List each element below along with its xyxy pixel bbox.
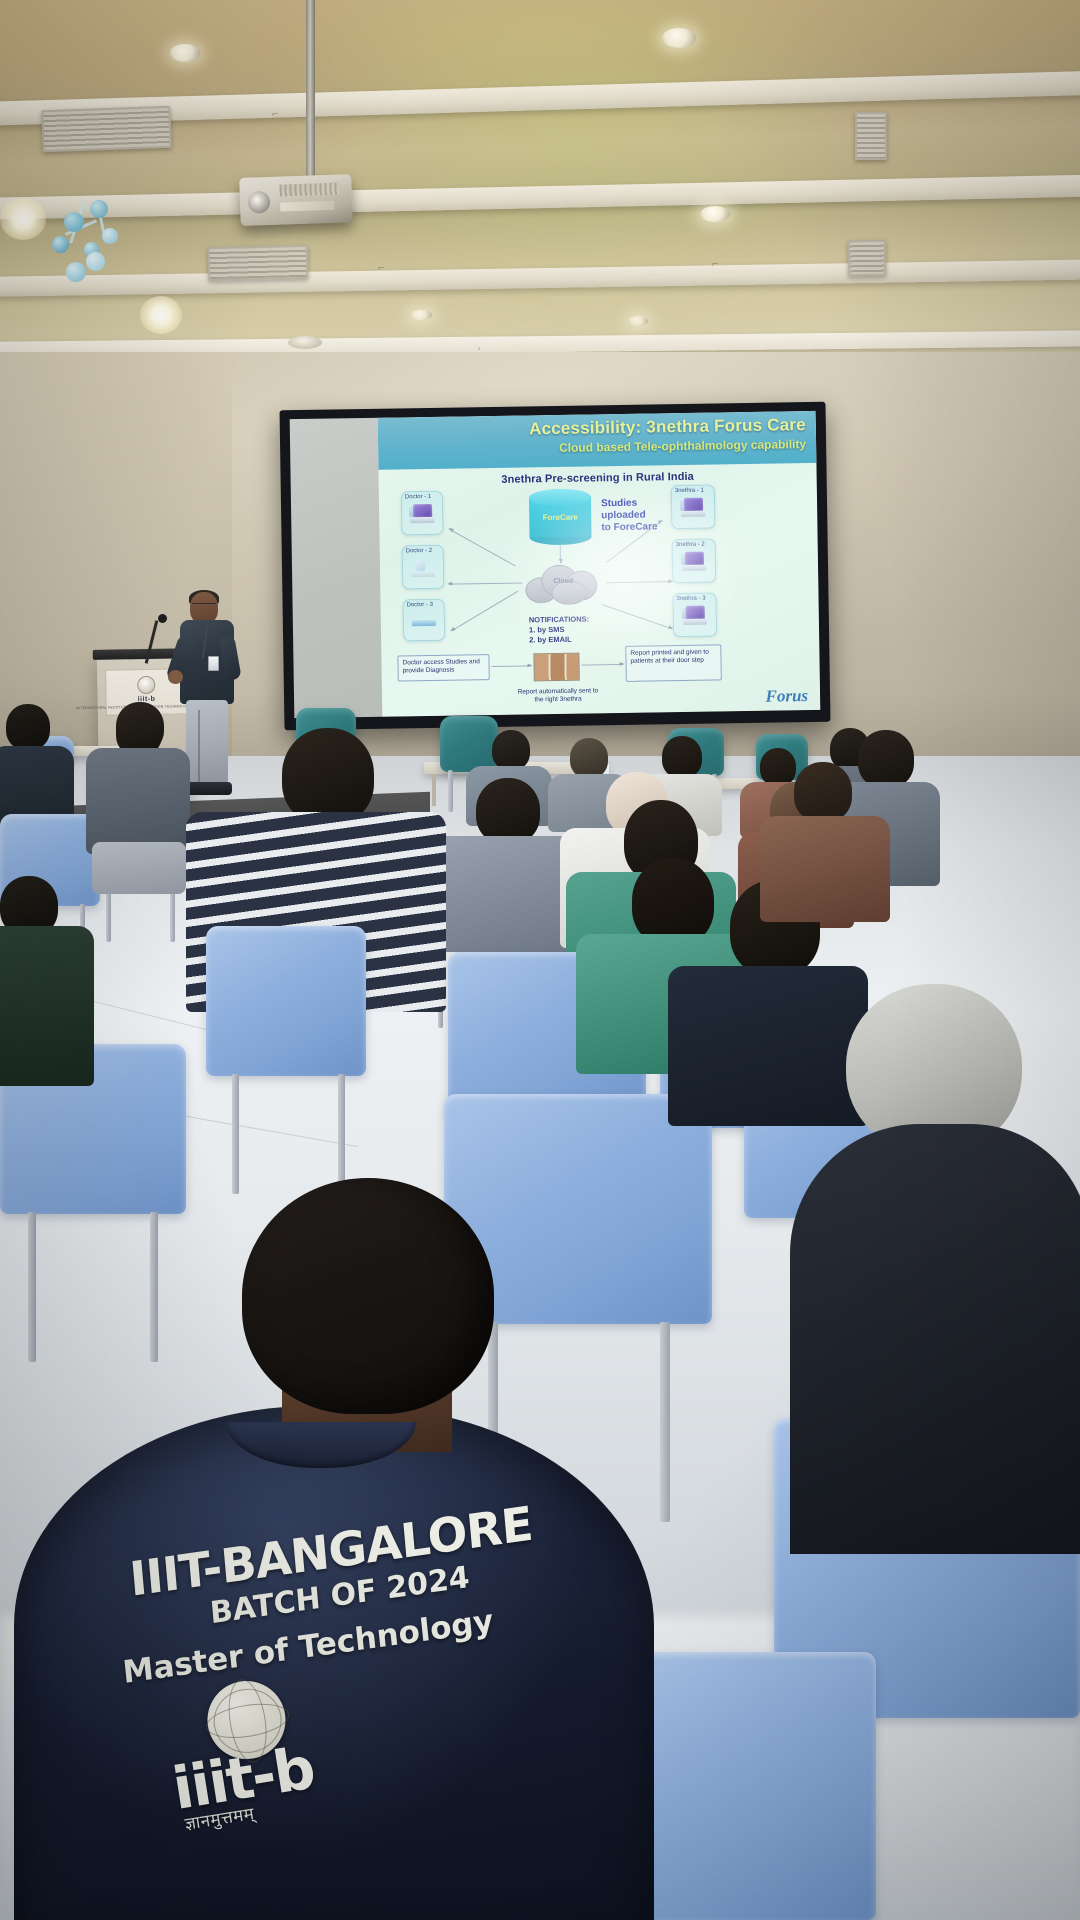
notifications-title: NOTIFICATIONS: xyxy=(529,614,589,625)
smoke-detector xyxy=(288,336,322,349)
doctor-node: Doctor - 2 xyxy=(402,545,445,590)
doctor-node: Doctor - 1 xyxy=(401,491,444,536)
presentation-slide: Accessibility: 3nethra Forus Care Cloud … xyxy=(378,411,821,717)
ac-vent xyxy=(848,240,887,277)
device-node: 3nethra - 2 xyxy=(672,538,717,583)
device-node-label: 3nethra - 2 xyxy=(676,542,705,548)
presenter-id-badge xyxy=(208,656,219,671)
ac-vent xyxy=(41,106,171,152)
hanging-molecule-decoration xyxy=(82,200,144,286)
device-node: 3nethra - 1 xyxy=(671,484,716,529)
computer-icon xyxy=(410,558,436,578)
device-node-label: 3nethra - 3 xyxy=(676,596,705,602)
arrow-cloud-doctor2 xyxy=(448,583,522,585)
database-label: ForeCare xyxy=(529,512,591,522)
cloud-label: Cloud xyxy=(525,577,601,585)
projector-label xyxy=(280,201,334,212)
notifications-block: NOTIFICATIONS: 1. by SMS 2. by EMAIL xyxy=(529,614,590,645)
projector-lens xyxy=(248,191,271,214)
report-printed-box: Report printed and given to patients at … xyxy=(625,644,722,682)
ceiling-downlight xyxy=(170,44,200,62)
ceiling-downlight xyxy=(628,316,648,326)
iiitb-globe-icon xyxy=(137,675,155,693)
arrow-db-to-cloud xyxy=(560,543,561,563)
cloud-icon: Cloud xyxy=(525,562,602,603)
upload-note-line: uploaded xyxy=(601,509,657,522)
slide-heading: 3nethra Pre-screening in Rural India xyxy=(379,469,817,488)
projection-screen[interactable]: Accessibility: 3nethra Forus Care Cloud … xyxy=(280,402,831,731)
ceiling-mark: ⌐ xyxy=(272,108,278,120)
report-thumbnail xyxy=(533,653,579,682)
microphone-head xyxy=(158,614,167,623)
computer-icon xyxy=(681,551,707,571)
presenter-glasses xyxy=(192,603,216,610)
forus-brand-logo: Forus xyxy=(765,686,808,707)
arrow-cloud-doctor1 xyxy=(449,529,516,567)
ceiling: ⌐ ⌐ ' ⌐ xyxy=(0,0,1080,372)
ceiling-downlight xyxy=(410,310,432,320)
arrow-cloud-device2 xyxy=(606,581,672,583)
ceiling-downlight xyxy=(700,206,730,222)
ac-vent xyxy=(208,245,309,281)
doctor-node-label: Doctor - 2 xyxy=(406,548,432,554)
ac-vent xyxy=(855,112,887,160)
doctor-node-label: Doctor - 1 xyxy=(405,494,431,500)
doctor-access-box: Doctor access Studies and provide Diagno… xyxy=(397,654,489,681)
foreground-person: IIIT-BANGALORE BATCH OF 2024 Master of T… xyxy=(14,1178,654,1920)
audience-person xyxy=(0,876,120,1076)
projector-mount-rod xyxy=(306,0,315,176)
tshirt-print: IIIT-BANGALORE BATCH OF 2024 Master of T… xyxy=(0,1151,675,1725)
computer-icon xyxy=(680,497,706,517)
screen-surface: Accessibility: 3nethra Forus Care Cloud … xyxy=(290,411,821,718)
upload-note-line: to ForeCare xyxy=(601,521,657,534)
notification-item: 2. by EMAIL xyxy=(529,634,589,645)
ceiling-downlight xyxy=(662,28,696,48)
computer-icon xyxy=(682,605,708,625)
presenter-left-hand xyxy=(168,670,183,684)
arrow-doctor-to-report xyxy=(492,665,532,667)
foreground-person-right xyxy=(790,984,1080,1604)
report-auto-sent-box: Report automatically sent to the right 3… xyxy=(510,684,606,706)
doctor-node: Doctor - 3 xyxy=(403,599,446,642)
ceiling-mark: ⌐ xyxy=(378,262,384,274)
arrow-cloud-doctor3 xyxy=(451,591,518,632)
audience-person xyxy=(86,702,190,882)
computer-icon xyxy=(411,611,437,631)
foreground-right-torso xyxy=(790,1124,1080,1554)
ceiling-lamp-glow xyxy=(0,198,46,240)
computer-icon xyxy=(409,504,435,524)
conference-hall-photo: ⌐ ⌐ ' ⌐ Accessibility: 3nethra Forus Car… xyxy=(0,0,1080,1920)
doctor-node-label: Doctor - 3 xyxy=(407,602,433,608)
audience-person xyxy=(760,762,890,912)
device-node-label: 3nethra - 1 xyxy=(675,488,704,494)
database-cylinder-icon: ForeCare xyxy=(529,488,592,543)
device-node: 3nethra - 3 xyxy=(672,592,717,637)
ceiling-projector xyxy=(239,174,353,226)
arrow-cloud-device3 xyxy=(602,604,672,629)
projector-vents xyxy=(279,182,339,196)
upload-note-line: Studies xyxy=(601,497,657,510)
ceiling-mark: ⌐ xyxy=(712,258,718,270)
arrow-report-to-printed xyxy=(582,664,624,666)
ceiling-lamp-glow xyxy=(140,296,182,334)
